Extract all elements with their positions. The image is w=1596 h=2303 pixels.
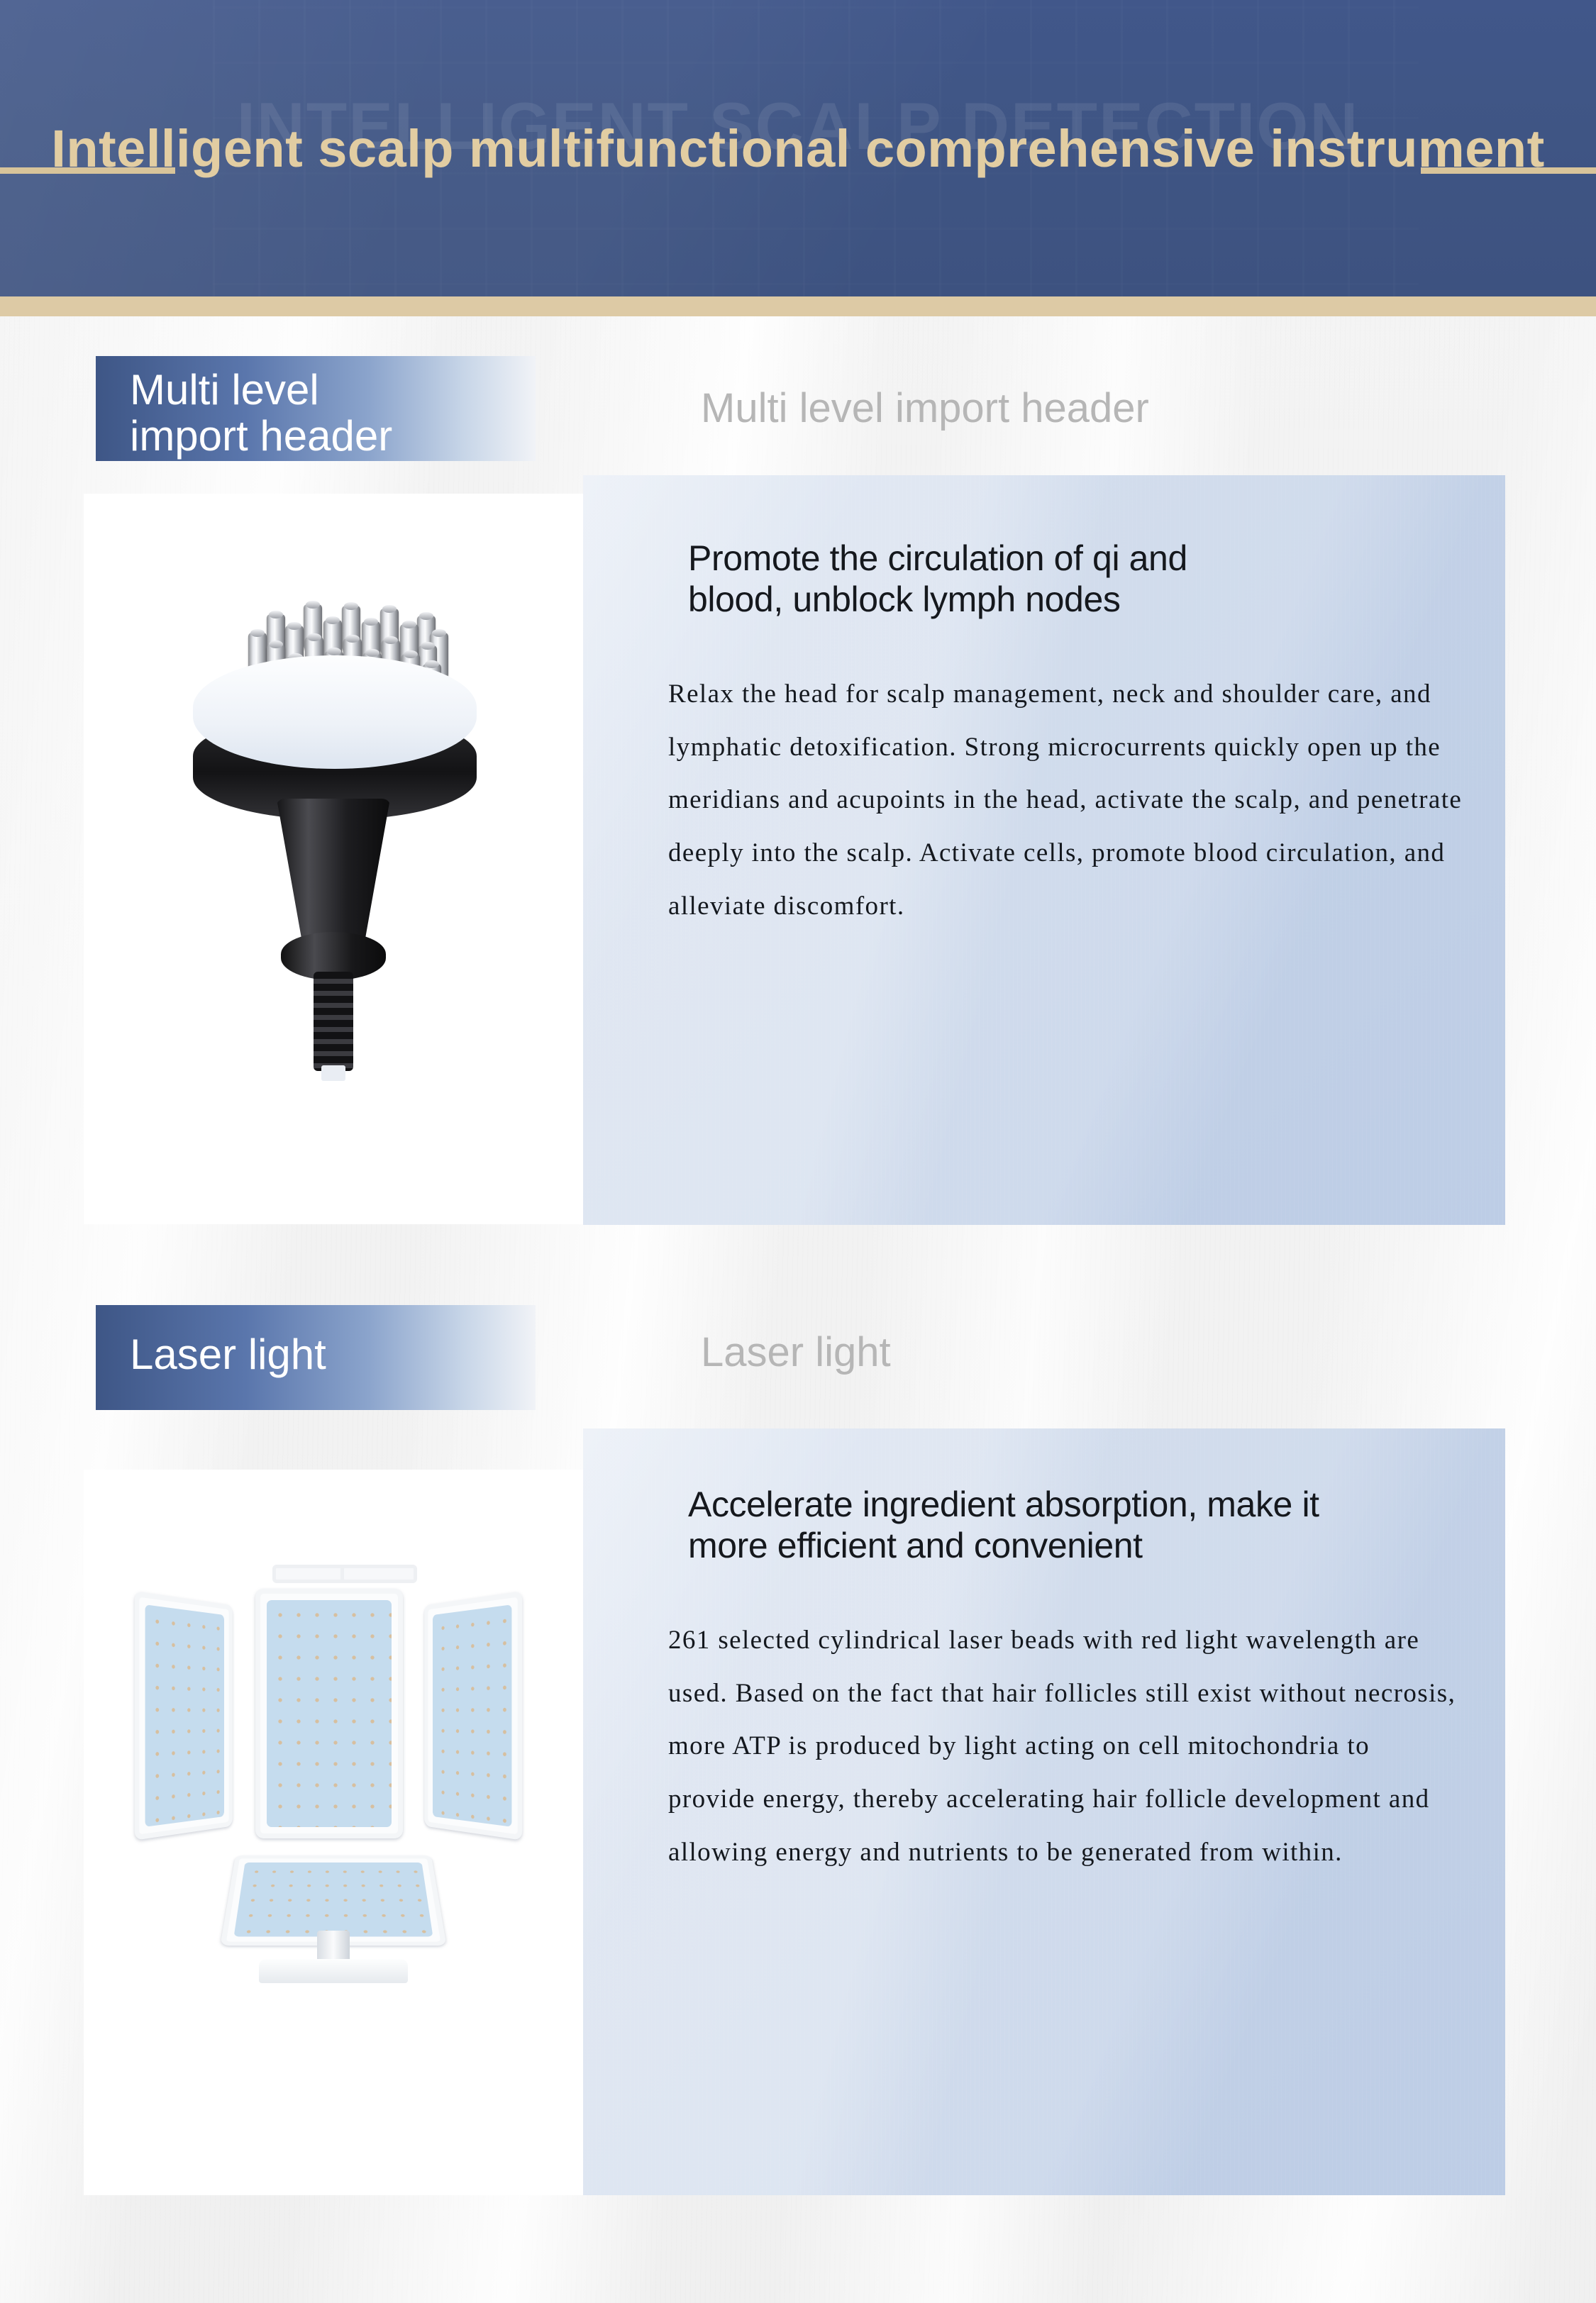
laser-light-panel-illustration [128,1576,539,1973]
microcurrent-head-illustration [177,549,489,1088]
device-handle-neck [277,799,390,952]
section-badge-label-1: Multi level import header [130,367,584,460]
product-heading-2: Accelerate ingredient absorption, make i… [688,1484,1490,1566]
header-gold-stripe [0,296,1596,316]
section-ghost-label-2: Laser light [701,1331,891,1375]
device-cable [314,972,353,1071]
section-badge-label-2: Laser light [130,1332,584,1378]
page-title: Intelligent scalp multifunctional compre… [0,119,1596,179]
section-badge-1: Multi level import header [96,356,536,461]
product-heading-1: Promote the circulation of qi and blood,… [688,538,1468,620]
product-body-1: Relax the head for scalp management, nec… [668,668,1463,933]
product-text-card-1: Promote the circulation of qi and blood,… [583,475,1505,1225]
laser-panel-center [255,1589,403,1838]
laser-panel-left [135,1591,233,1840]
panel-hinge-tab-right [340,1565,417,1583]
laser-panel-right [424,1591,522,1840]
product-brochure-page: INTELLIGENT SCALP DETECTION Intelligent … [0,0,1596,2303]
device-cable-tip [321,1065,345,1081]
section-badge-2: Laser light [96,1305,536,1410]
product-text-card-2: Accelerate ingredient absorption, make i… [583,1428,1505,2195]
page-header: INTELLIGENT SCALP DETECTION Intelligent … [0,0,1596,296]
product-image-panel-2 [84,1470,583,2195]
product-image-panel-1 [84,494,583,1224]
device-white-disc [193,655,477,769]
panel-hinge-tab-left [272,1565,349,1583]
section-ghost-label-1: Multi level import header [701,387,1149,431]
laser-stand-base [259,1959,408,1983]
product-body-2: 261 selected cylindrical laser beads wit… [668,1614,1463,1880]
